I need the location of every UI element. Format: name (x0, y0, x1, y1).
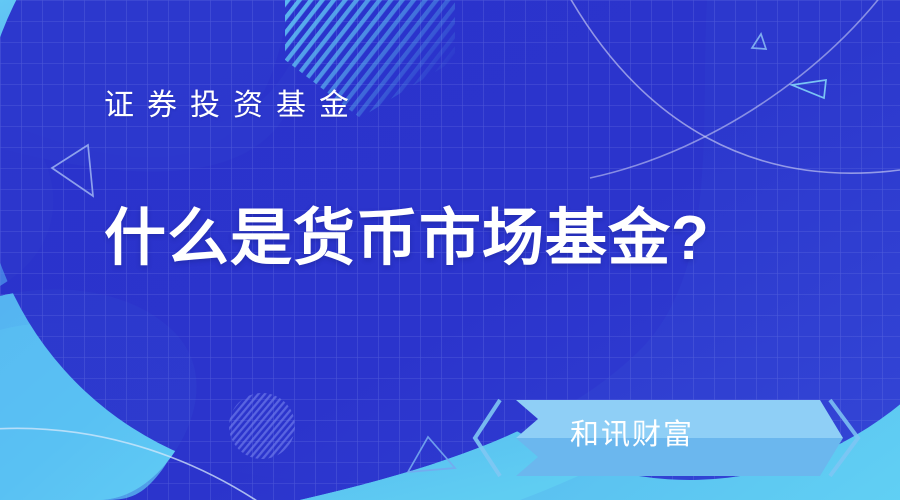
background-artwork (0, 0, 900, 500)
promo-banner: 证券投资基金 什么是货币市场基金? 和讯财富 (0, 0, 900, 500)
brand-badge-shape[interactable] (475, 400, 858, 476)
badge-body-bottom (516, 438, 843, 476)
striped-circle (229, 393, 295, 459)
badge-body-top (516, 400, 843, 438)
